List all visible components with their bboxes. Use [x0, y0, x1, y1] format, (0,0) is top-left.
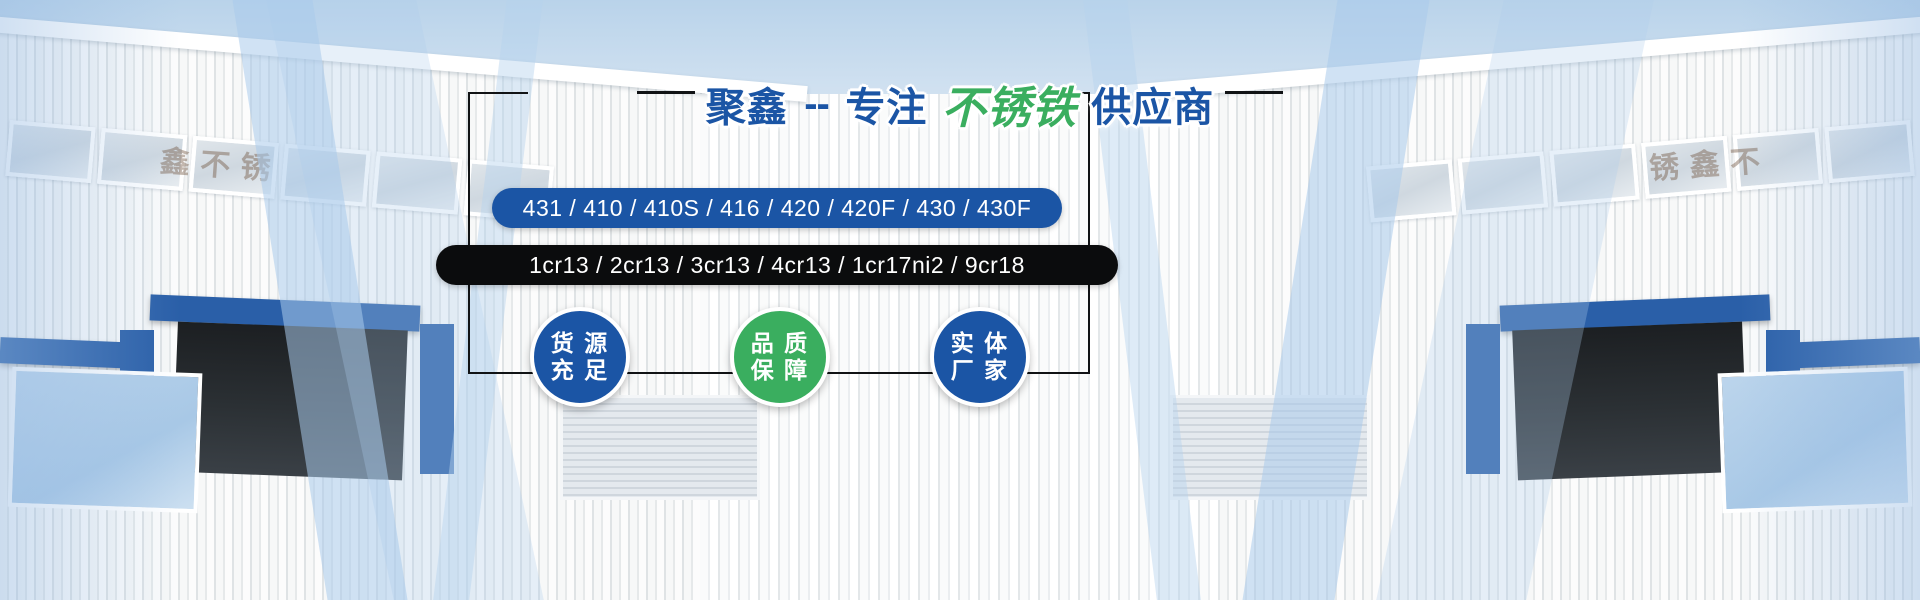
- grades-secondary-pill: 1cr13 / 2cr13 / 3cr13 / 4cr13 / 1cr17ni2…: [436, 245, 1118, 285]
- feature-badge-quality: 品 质 保 障: [730, 307, 830, 407]
- headline-focus: 专注: [839, 75, 933, 133]
- feature-badge-line2: 保 障: [751, 357, 809, 384]
- promo-banner: 鑫 不 锈 锈 鑫 不 聚鑫 -- 专注 不锈铁 供应商 431 / 410: [0, 0, 1920, 600]
- banner-content: 聚鑫 -- 专注 不锈铁 供应商 431 / 410 / 410S / 416 …: [0, 0, 1920, 600]
- feature-badges: 货 源 充 足 品 质 保 障 实 体 厂 家: [530, 306, 1030, 408]
- feature-badge-supply: 货 源 充 足: [530, 307, 630, 407]
- headline: 聚鑫 -- 专注 不锈铁 供应商: [0, 72, 1920, 136]
- grades-primary-pill: 431 / 410 / 410S / 416 / 420 / 420F / 43…: [492, 188, 1062, 228]
- feature-badge-line2: 充 足: [551, 357, 609, 384]
- feature-badge-line1: 货 源: [551, 330, 609, 357]
- feature-badge-line2: 厂 家: [951, 357, 1009, 384]
- feature-badge-line1: 品 质: [751, 330, 809, 357]
- feature-badge-line1: 实 体: [951, 330, 1009, 357]
- headline-material: 不锈铁: [938, 72, 1081, 136]
- headline-dash: --: [798, 82, 835, 127]
- headline-brand: 聚鑫: [700, 75, 794, 133]
- feature-badge-factory: 实 体 厂 家: [930, 307, 1030, 407]
- headline-rule-left: [637, 91, 695, 94]
- headline-supplier: 供应商: [1085, 75, 1220, 133]
- headline-rule-right: [1225, 91, 1283, 94]
